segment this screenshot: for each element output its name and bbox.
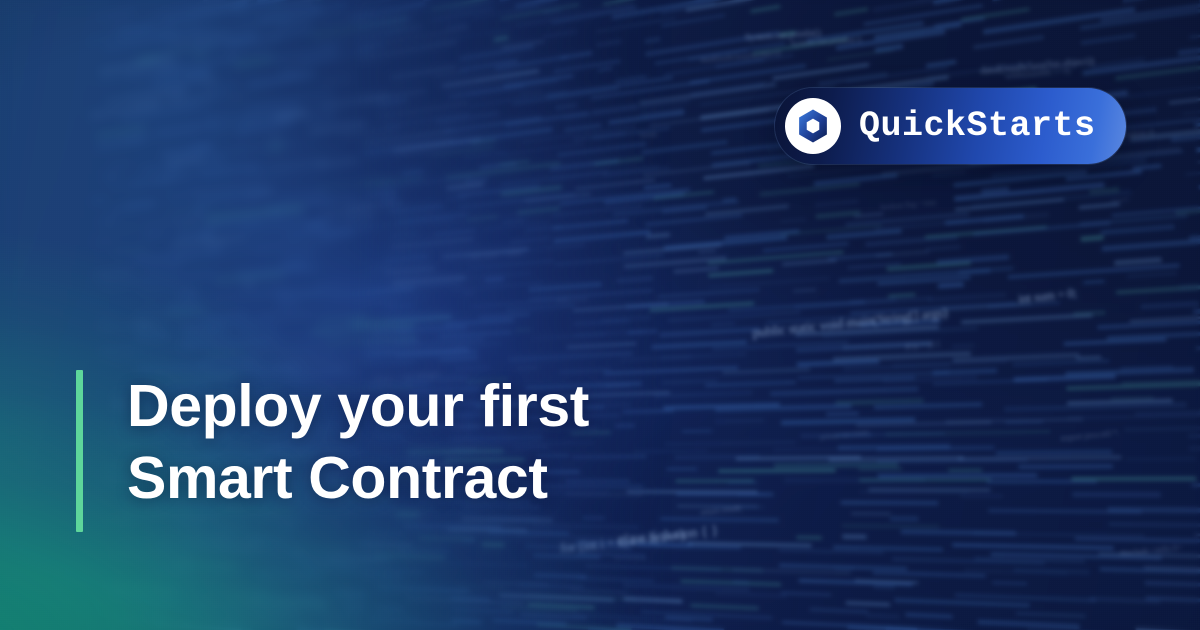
headline-line-1: Deploy your first (127, 370, 589, 442)
headline-block: Deploy your first Smart Contract (76, 370, 589, 532)
banner-canvas: System.out.println();System.out.println(… (0, 0, 1200, 630)
badge-label: QuickStarts (859, 109, 1096, 144)
page-title: Deploy your first Smart Contract (127, 370, 589, 532)
headline-line-2: Smart Contract (127, 442, 589, 514)
chainlink-hexagon-icon (785, 98, 841, 154)
accent-bar (76, 370, 83, 532)
quickstarts-badge[interactable]: QuickStarts (775, 88, 1126, 164)
